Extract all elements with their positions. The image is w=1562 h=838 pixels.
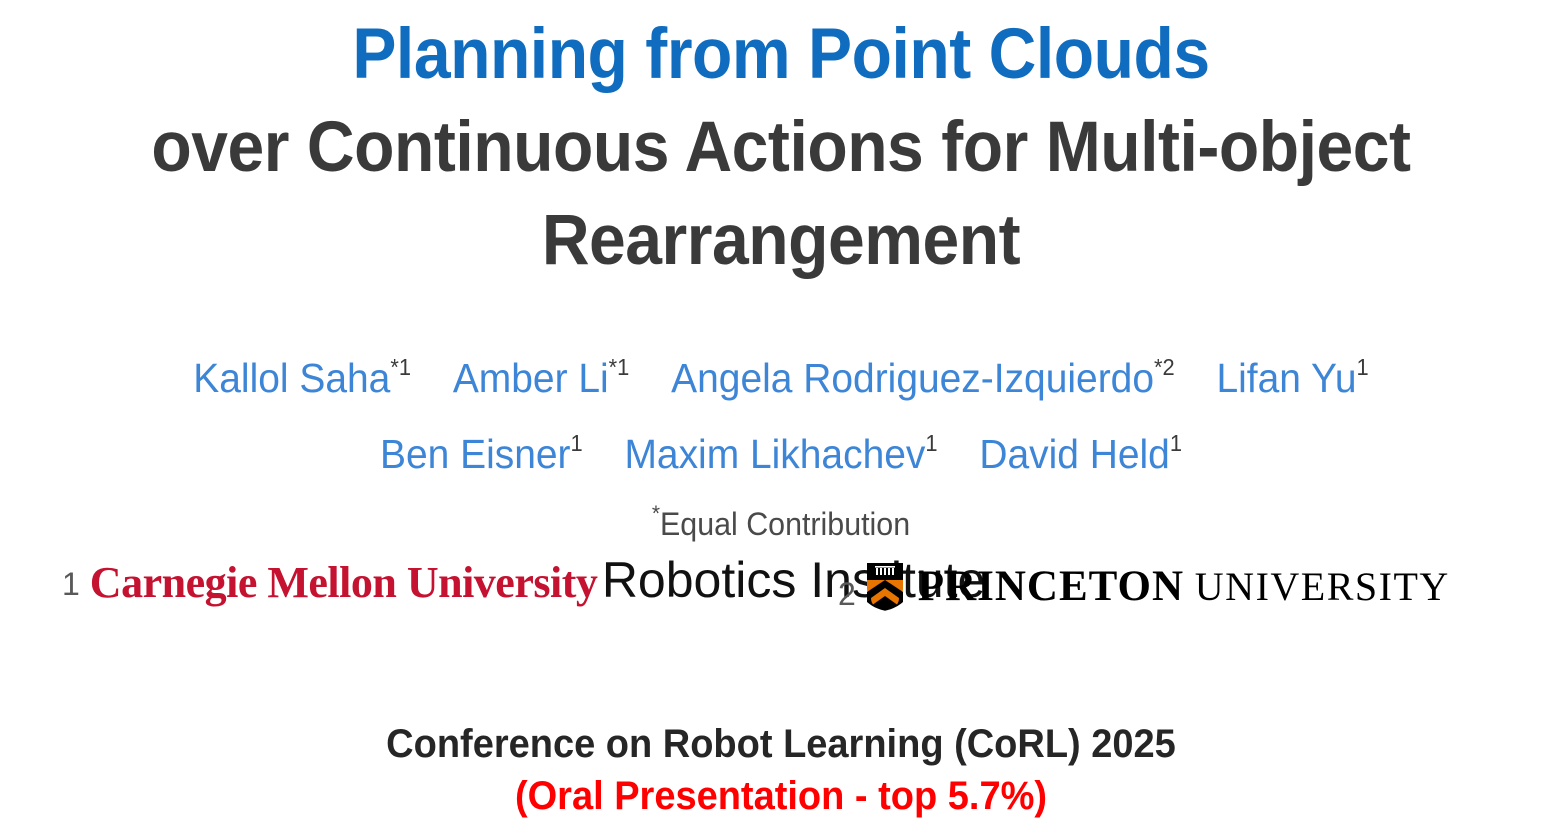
author-name: Angela Rodriguez-Izquierdo: [671, 355, 1154, 401]
conference-name: Conference on Robot Learning (CoRL) 2025: [77, 718, 1485, 770]
author-row-2: Ben Eisner1Maxim Likhachev1David Held1: [77, 421, 1485, 497]
page-title: Planning from Point Clouds over Continuo…: [40, 8, 1522, 287]
author-affiliation-marker: *1: [390, 354, 411, 380]
equal-contribution-text: Equal Contribution: [660, 506, 910, 542]
footer: Conference on Robot Learning (CoRL) 2025…: [40, 718, 1522, 822]
presentation-note: (Oral Presentation - top 5.7%): [77, 770, 1485, 822]
author-affiliation-marker: 1: [925, 430, 937, 456]
author-angela-rodriguez-izquierdo: Angela Rodriguez-Izquierdo*2: [671, 345, 1175, 411]
princeton-wordmark: PRINCETON UNIVERSITY: [918, 564, 1450, 610]
author-row-1: Kallol Saha*1Amber Li*1Angela Rodriguez-…: [77, 345, 1485, 421]
author-ben-eisner: Ben Eisner1: [380, 421, 583, 487]
author-kallol-saha: Kallol Saha*1: [193, 345, 411, 411]
affiliation-princeton: 2: [838, 562, 1450, 611]
author-affiliation-marker: 1: [1357, 354, 1369, 380]
title-slide: Planning from Point Clouds over Continuo…: [0, 0, 1562, 838]
princeton-wordmark-regular: UNIVERSITY: [1195, 564, 1450, 609]
author-maxim-likhachev: Maxim Likhachev1: [624, 421, 937, 487]
author-name: Kallol Saha: [193, 355, 390, 401]
author-affiliation-marker: 1: [1170, 430, 1182, 456]
author-list: Kallol Saha*1Amber Li*1Angela Rodriguez-…: [40, 345, 1522, 545]
title-line-2: over Continuous Actions for Multi-object: [92, 101, 1470, 194]
equal-contribution-note: *Equal Contribution: [77, 503, 1485, 545]
author-name: Lifan Yu: [1216, 355, 1356, 401]
author-lifan-yu: Lifan Yu1: [1216, 345, 1368, 411]
author-david-held: David Held1: [979, 421, 1182, 487]
author-name: David Held: [979, 431, 1170, 477]
author-name: Amber Li: [453, 355, 609, 401]
title-line-3: Rearrangement: [92, 194, 1470, 287]
author-amber-li: Amber Li*1: [453, 345, 630, 411]
title-line-1: Planning from Point Clouds: [92, 8, 1470, 101]
author-affiliation-marker: 1: [571, 430, 583, 456]
princeton-shield-icon: [866, 562, 904, 611]
princeton-wordmark-bold: PRINCETON: [918, 563, 1184, 610]
author-affiliation-marker: *2: [1154, 354, 1175, 380]
author-name: Ben Eisner: [380, 431, 571, 477]
affiliation-logos: 1 Carnegie Mellon University Robotics In…: [0, 548, 1562, 668]
cmu-university-name: Carnegie Mellon University: [90, 558, 598, 607]
author-name: Maxim Likhachev: [624, 431, 925, 477]
equal-contribution-asterisk: *: [652, 501, 660, 526]
affiliation-marker-1: 1: [62, 552, 80, 600]
author-affiliation-marker: *1: [609, 354, 630, 380]
affiliation-marker-2: 2: [838, 562, 856, 610]
princeton-logo: PRINCETON UNIVERSITY: [866, 562, 1450, 611]
